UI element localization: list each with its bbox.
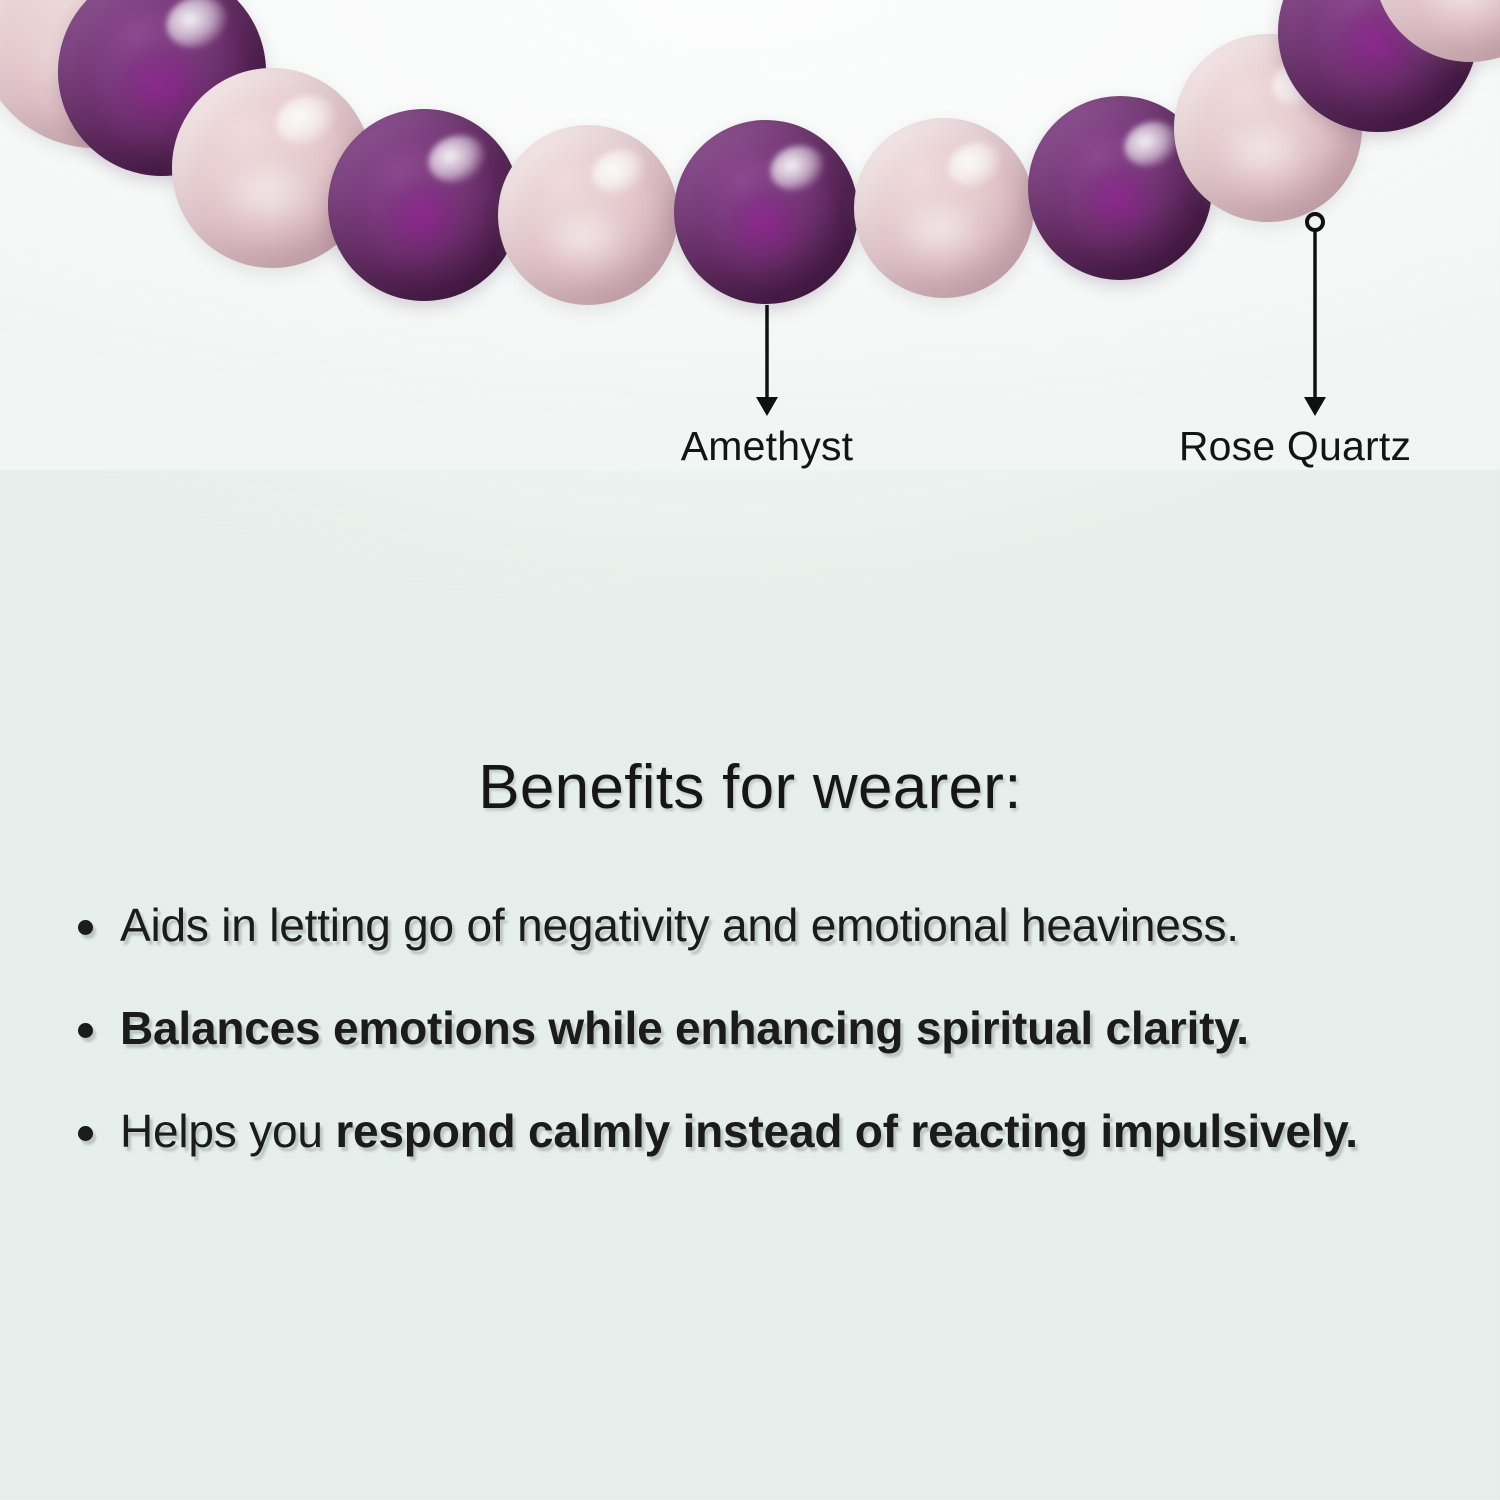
bullet-dot-icon bbox=[78, 1023, 93, 1038]
callout-label-rose-quartz: Rose Quartz bbox=[1179, 423, 1411, 470]
benefit-text: Aids in letting go of negativity and emo… bbox=[120, 899, 1239, 951]
benefit-text-emphasis: Balances emotions while enhancing spirit… bbox=[120, 1002, 1249, 1054]
product-infographic: AmethystRose Quartz Benefits for wearer:… bbox=[0, 0, 1500, 1500]
benefit-list-item: Aids in letting go of negativity and emo… bbox=[62, 898, 1442, 953]
paper-grain-overlay bbox=[0, 0, 1500, 1500]
callout-leader-line bbox=[747, 293, 787, 430]
callout-label-amethyst: Amethyst bbox=[681, 423, 854, 470]
benefit-text-emphasis: respond calmly instead of reacting impul… bbox=[335, 1105, 1358, 1157]
bullet-dot-icon bbox=[78, 920, 93, 935]
callout-leader-line bbox=[1295, 210, 1335, 430]
benefit-list-item: Helps you respond calmly instead of reac… bbox=[62, 1104, 1442, 1159]
bullet-dot-icon bbox=[78, 1126, 93, 1141]
benefit-text: Helps you bbox=[120, 1105, 335, 1157]
benefit-list-item: Balances emotions while enhancing spirit… bbox=[62, 1001, 1442, 1056]
benefits-heading: Benefits for wearer: bbox=[0, 752, 1500, 823]
benefits-list: Aids in letting go of negativity and emo… bbox=[62, 898, 1442, 1160]
